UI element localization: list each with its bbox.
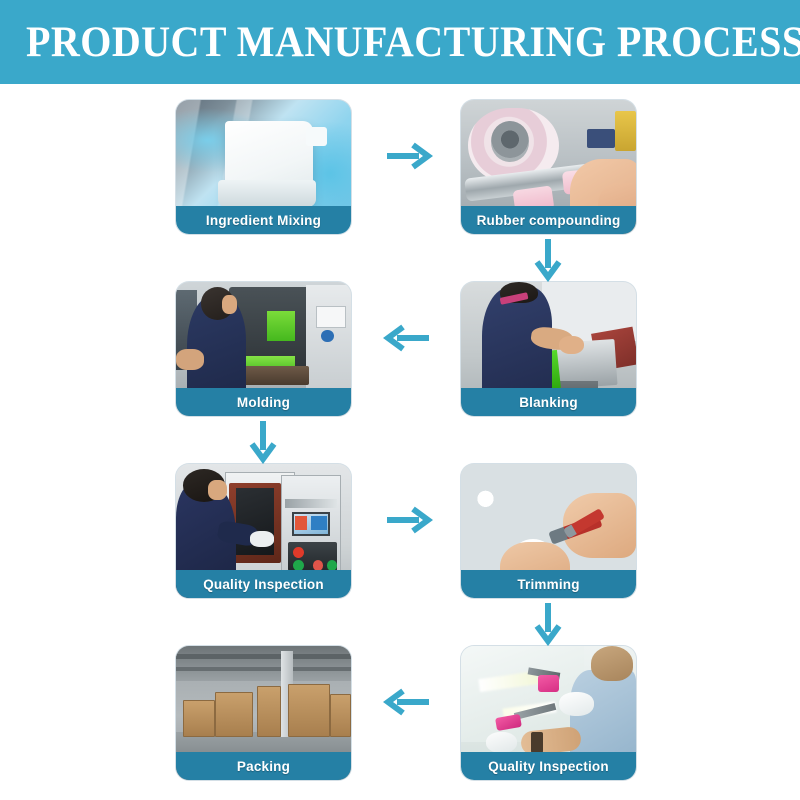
process-step-rubber-compounding[interactable]: Rubber compounding — [461, 100, 636, 234]
process-step-molding[interactable]: Molding — [176, 282, 351, 416]
step-caption: Blanking — [461, 388, 636, 416]
arrow-right-quality-inspection-to-trimming — [383, 504, 433, 536]
process-step-ingredient-mixing[interactable]: Ingredient Mixing — [176, 100, 351, 234]
arrow-left-blanking-to-molding — [383, 322, 433, 354]
step-caption: Quality Inspection — [176, 570, 351, 598]
step-caption: Quality Inspection — [461, 752, 636, 780]
page-header: PRODUCT MANUFACTURING PROCESS — [0, 0, 800, 84]
page-title: PRODUCT MANUFACTURING PROCESS — [0, 18, 800, 67]
process-step-trimming[interactable]: Trimming — [461, 464, 636, 598]
arrow-left-quality-inspection-to-packing — [383, 686, 433, 718]
arrow-down-trimming-to-quality-inspection — [532, 600, 564, 646]
step-caption: Molding — [176, 388, 351, 416]
process-step-quality-inspection-1[interactable]: Quality Inspection — [176, 464, 351, 598]
arrow-right-ingredient-to-compounding — [383, 140, 433, 172]
process-step-quality-inspection-2[interactable]: Quality Inspection — [461, 646, 636, 780]
arrow-down-compounding-to-blanking — [532, 236, 564, 282]
step-caption: Trimming — [461, 570, 636, 598]
step-caption: Rubber compounding — [461, 206, 636, 234]
process-step-packing[interactable]: Packing — [176, 646, 351, 780]
step-caption: Packing — [176, 752, 351, 780]
process-flow-diagram: Ingredient Mixing Rubber compounding — [0, 84, 800, 800]
step-caption: Ingredient Mixing — [176, 206, 351, 234]
arrow-down-molding-to-quality-inspection — [247, 418, 279, 464]
process-step-blanking[interactable]: Blanking — [461, 282, 636, 416]
